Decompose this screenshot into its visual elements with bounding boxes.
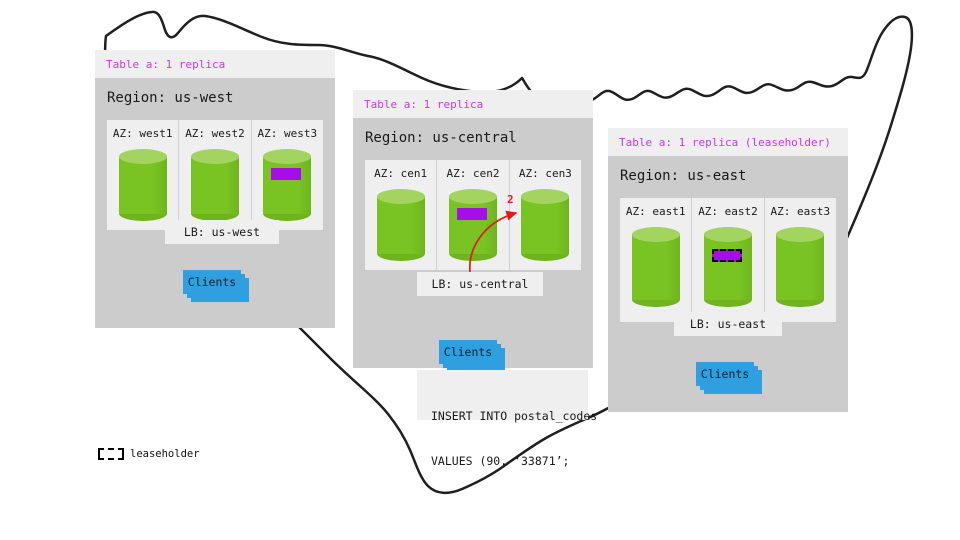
table-replica-label-central: Table a: 1 replica [364,98,483,111]
cylinder-top-east3 [776,227,824,242]
clients-label-us-west: Clients [188,275,236,289]
table-replica-label-east: Table a: 1 replica (leaseholder) [619,136,831,149]
node-cylinder-west2[interactable] [191,149,239,221]
region-title-west: Region: us-west [107,90,233,106]
sql-line-1: INSERT INTO postal_codes [431,409,588,424]
cylinder-top-west3 [263,149,311,164]
cylinder-top-cen2 [449,189,497,204]
region-title-central: Region: us-central [365,130,517,146]
az-cell-cen3: AZ: cen3 [510,160,581,270]
region-panel-us-west: Table a: 1 replica Region: us-west AZ: w… [95,50,335,328]
load-balancer-label-us-west: LB: us-west [184,225,260,239]
az-cell-cen2: AZ: cen2 [437,160,509,270]
load-balancer-us-east[interactable]: LB: us-east [674,312,782,336]
cylinder-top-cen3 [521,189,569,204]
az-cell-east2: AZ: east2 [692,198,764,322]
region-body-central: Region: us-central AZ: cen1 AZ: cen2 [353,118,593,368]
load-balancer-label-us-central: LB: us-central [432,277,529,291]
cylinder-shade-east2 [739,234,752,300]
load-balancer-us-west[interactable]: LB: us-west [165,220,279,244]
az-cell-east3: AZ: east3 [765,198,836,322]
az-label-cen2: AZ: cen2 [447,167,500,180]
clients-button-us-central[interactable]: Clients [439,340,497,364]
node-cylinder-cen3[interactable] [521,189,569,261]
clients-stack-us-west[interactable]: Clients [183,270,251,304]
cylinder-top-west2 [191,149,239,164]
az-cell-west3: AZ: west3 [252,120,323,230]
cylinder-shade-cen3 [556,196,569,254]
range-replica-leaseholder-east2 [712,249,742,262]
az-label-east1: AZ: east1 [626,205,686,218]
az-cell-cen1: AZ: cen1 [365,160,437,270]
sql-statement-box: INSERT INTO postal_codes VALUES (90, ‘33… [417,370,588,420]
clients-label-us-central: Clients [444,345,492,359]
node-cylinder-east2[interactable] [704,227,752,307]
region-panel-us-east: Table a: 1 replica (leaseholder) Region:… [608,128,848,412]
clients-stack-us-east[interactable]: Clients [696,362,764,396]
region-title-east: Region: us-east [620,168,746,184]
az-cell-west1: AZ: west1 [107,120,179,230]
cylinder-top-east1 [632,227,680,242]
az-label-west2: AZ: west2 [185,127,245,140]
cylinder-shade-cen1 [411,196,424,254]
table-replica-bar-west: Table a: 1 replica [95,50,335,78]
region-panel-us-central: Table a: 1 replica Region: us-central AZ… [353,90,593,368]
load-balancer-label-us-east: LB: us-east [690,317,766,331]
az-label-west3: AZ: west3 [258,127,318,140]
region-body-west: Region: us-west AZ: west1 AZ: west2 [95,78,335,328]
node-cylinder-cen2[interactable] [449,189,497,261]
az-cell-east1: AZ: east1 [620,198,692,322]
cylinder-shade-east1 [666,234,679,300]
az-label-cen1: AZ: cen1 [374,167,427,180]
legend-leaseholder-text: leaseholder [130,448,200,460]
table-replica-bar-central: Table a: 1 replica [353,90,593,118]
load-balancer-us-central[interactable]: LB: us-central [417,272,543,296]
region-body-east: Region: us-east AZ: east1 AZ: east2 [608,156,848,412]
diagram-canvas: Table a: 1 replica Region: us-west AZ: w… [0,0,960,540]
az-label-west1: AZ: west1 [113,127,173,140]
leaseholder-swatch-icon [98,448,124,460]
table-replica-label-west: Table a: 1 replica [106,58,225,71]
range-replica-west3 [271,168,301,180]
node-cylinder-west3[interactable] [263,149,311,221]
clients-button-us-west[interactable]: Clients [183,270,241,294]
cylinder-shade-west2 [226,156,239,214]
node-cylinder-east1[interactable] [632,227,680,307]
node-cylinder-cen1[interactable] [377,189,425,261]
az-container-west: AZ: west1 AZ: west2 [107,120,323,230]
cylinder-shade-west1 [153,156,166,214]
legend-leaseholder: leaseholder [98,448,200,460]
cylinder-top-cen1 [377,189,425,204]
az-cell-west2: AZ: west2 [179,120,251,230]
az-label-east3: AZ: east3 [771,205,831,218]
az-container-east: AZ: east1 AZ: east2 [620,198,836,322]
node-cylinder-east3[interactable] [776,227,824,307]
cylinder-top-west1 [119,149,167,164]
cylinder-shade-west3 [298,156,311,214]
range-replica-cen2 [457,208,487,220]
table-replica-bar-east: Table a: 1 replica (leaseholder) [608,128,848,156]
az-label-east2: AZ: east2 [698,205,758,218]
clients-stack-us-central[interactable]: Clients [439,340,507,374]
cylinder-shade-cen2 [484,196,497,254]
routing-hop-count-label: 2 [507,193,514,206]
az-container-central: AZ: cen1 AZ: cen2 [365,160,581,270]
clients-button-us-east[interactable]: Clients [696,362,754,386]
node-cylinder-west1[interactable] [119,149,167,221]
sql-line-2: VALUES (90, ‘33871’; [431,454,588,469]
clients-label-us-east: Clients [701,367,749,381]
cylinder-shade-east3 [811,234,824,300]
cylinder-top-east2 [704,227,752,242]
az-label-cen3: AZ: cen3 [519,167,572,180]
